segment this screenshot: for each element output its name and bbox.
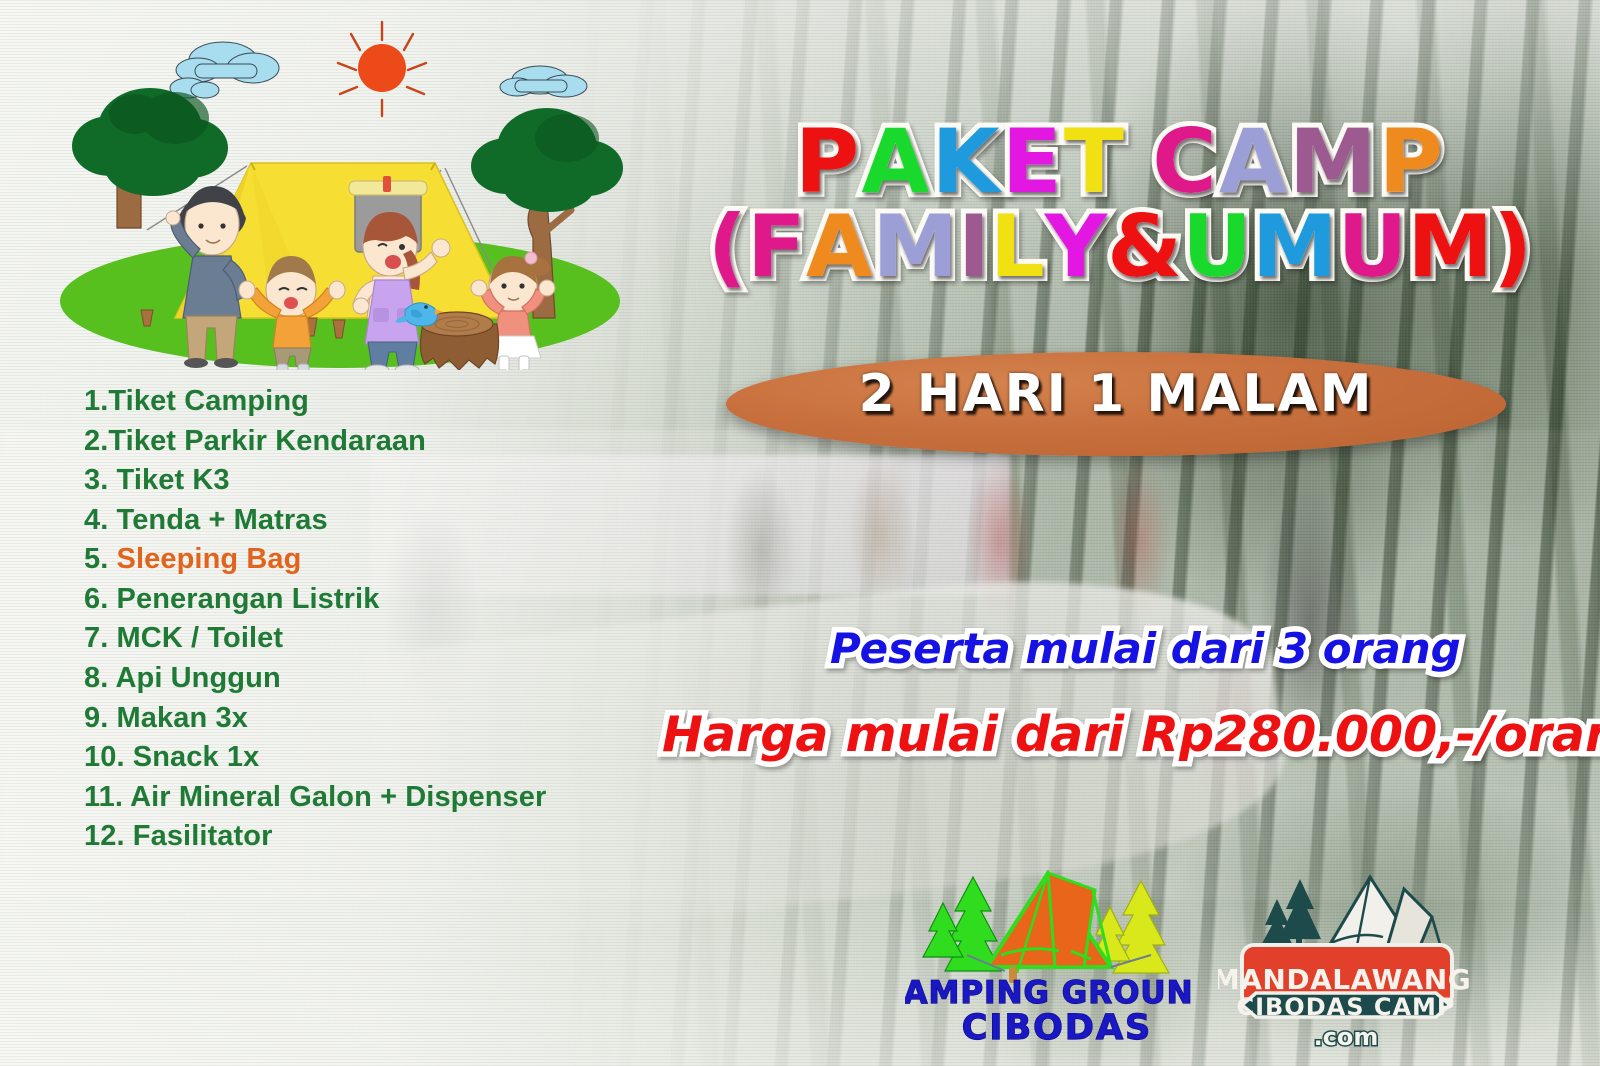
logo-mandalawangi-line1: MANDALAWANGI	[1218, 963, 1473, 996]
logo-pine-trees-left	[923, 877, 1001, 971]
headline-letter-&: &&	[1107, 204, 1182, 290]
headline-letter-L: LL	[990, 204, 1045, 290]
feature-label: Makan 3x	[117, 702, 248, 734]
logo-mandalawangi-line2: CIBODAS CAMP	[1236, 993, 1455, 1021]
headline-letter-): ))	[1493, 204, 1532, 290]
feature-item-12: 12. Fasilitator	[84, 817, 704, 857]
feature-number: 2.	[84, 425, 108, 457]
feature-number: 7.	[84, 622, 117, 654]
headline-letter-P: PP	[1379, 118, 1446, 206]
feature-number: 4.	[84, 504, 117, 536]
headline-letter-C: CC	[1152, 118, 1219, 206]
feature-number: 6.	[84, 583, 117, 615]
cloud-large	[176, 42, 279, 83]
logo-mw-ribbon: CIBODAS CAMP	[1236, 993, 1455, 1021]
headline-letter-U: UU	[1338, 204, 1408, 290]
feature-item-1: 1.Tiket Camping	[84, 382, 704, 422]
logo-camping-ground-cibodas[interactable]: CAMPING GROUND CIBODAS	[905, 855, 1195, 1050]
cloud-right	[500, 66, 587, 97]
headline-letter-(: ((	[708, 204, 747, 290]
promo-participants: Peserta mulai dari 3 orang Peserta mulai…	[830, 628, 1461, 670]
feature-number: 9.	[84, 702, 117, 734]
poster-canvas: 1.Tiket Camping2.Tiket Parkir Kendaraan3…	[0, 0, 1600, 1066]
feature-label: Air Mineral Galon + Dispenser	[130, 781, 546, 813]
feature-number: 11.	[84, 781, 130, 813]
headline-letter-I: II	[958, 204, 990, 290]
feature-label: Tenda + Matras	[117, 504, 328, 536]
feature-number: 5.	[84, 543, 117, 575]
headline-letter-A: AA	[806, 204, 873, 290]
feature-label: Tiket Parkir Kendaraan	[108, 425, 426, 457]
headline-line-1: PPAAKKEETTCCAAMMPP	[795, 118, 1445, 206]
feature-item-6: 6. Penerangan Listrik	[84, 580, 704, 620]
feature-number: 8.	[84, 662, 115, 694]
feature-label: MCK / Toilet	[117, 622, 284, 654]
feature-item-3: 3. Tiket K3	[84, 461, 704, 501]
package-features-list: 1.Tiket Camping2.Tiket Parkir Kendaraan3…	[84, 382, 704, 857]
headline-letter-M: MM	[1407, 204, 1493, 290]
headline-letter-U: UU	[1182, 204, 1252, 290]
headline-letter-Y: YY	[1045, 204, 1107, 290]
headline-letter-A: AA	[1219, 118, 1289, 206]
feature-label: Sleeping Bag	[117, 543, 302, 575]
logo-mandalawangi-cibodas-camp[interactable]: MANDALAWANGI CIBODAS CAMP .com	[1218, 855, 1473, 1055]
feature-number: 3.	[84, 464, 117, 496]
logo-tent	[987, 873, 1111, 973]
headline-letter-F: FF	[747, 204, 806, 290]
logo-mandalawangi-line3: .com	[1314, 1023, 1379, 1051]
headline-letter-A: AA	[861, 118, 931, 206]
feature-item-9: 9. Makan 3x	[84, 699, 704, 739]
promo-participants-label: Peserta mulai dari 3 orang	[830, 624, 1461, 673]
feature-item-2: 2.Tiket Parkir Kendaraan	[84, 422, 704, 462]
logo-mw-tent	[1326, 877, 1442, 951]
feature-item-10: 10. Snack 1x	[84, 738, 704, 778]
feature-number: 10.	[84, 741, 133, 773]
feature-item-5: 5. Sleeping Bag	[84, 540, 704, 580]
feature-item-11: 11. Air Mineral Galon + Dispenser	[84, 778, 704, 818]
duration-banner-label: 2 HARI 1 MALAM	[726, 364, 1506, 424]
headline-line-2: ((FFAAMMIILLYY&&UUMMUUMM))	[708, 204, 1533, 290]
feature-item-8: 8. Api Unggun	[84, 659, 704, 699]
feature-label: Tiket Camping	[108, 385, 309, 417]
logo-camping-ground-line1: CAMPING GROUND	[905, 975, 1195, 1011]
headline-letter-M: MM	[1289, 118, 1379, 206]
promo-price: Harga mulai dari Rp280.000,-/orang Harga…	[662, 710, 1600, 759]
feature-item-7: 7. MCK / Toilet	[84, 619, 704, 659]
feature-number: 12.	[84, 820, 133, 852]
headline-letter-P: PP	[795, 118, 862, 206]
headline-letter-K: KK	[932, 118, 1002, 206]
headline-letter-E: EE	[1002, 118, 1064, 206]
headline-letter-M: MM	[872, 204, 958, 290]
headline-letter-T: TT	[1064, 118, 1126, 206]
headline-letter-M: MM	[1252, 204, 1338, 290]
promo-price-label: Harga mulai dari Rp280.000,-/orang	[662, 706, 1600, 763]
feature-label: Penerangan Listrik	[117, 583, 380, 615]
feature-label: Snack 1x	[133, 741, 260, 773]
feature-number: 1.	[84, 385, 108, 417]
logo-camping-ground-line2: CIBODAS	[962, 1008, 1153, 1048]
feature-label: Fasilitator	[133, 820, 273, 852]
poster-headline: PPAAKKEETTCCAAMMPP ((FFAAMMIILLYY&&UUMMU…	[700, 118, 1540, 290]
feature-item-4: 4. Tenda + Matras	[84, 501, 704, 541]
family-camping-illustration	[55, 18, 625, 370]
feature-label: Tiket K3	[117, 464, 230, 496]
feature-label: Api Unggun	[115, 662, 280, 694]
